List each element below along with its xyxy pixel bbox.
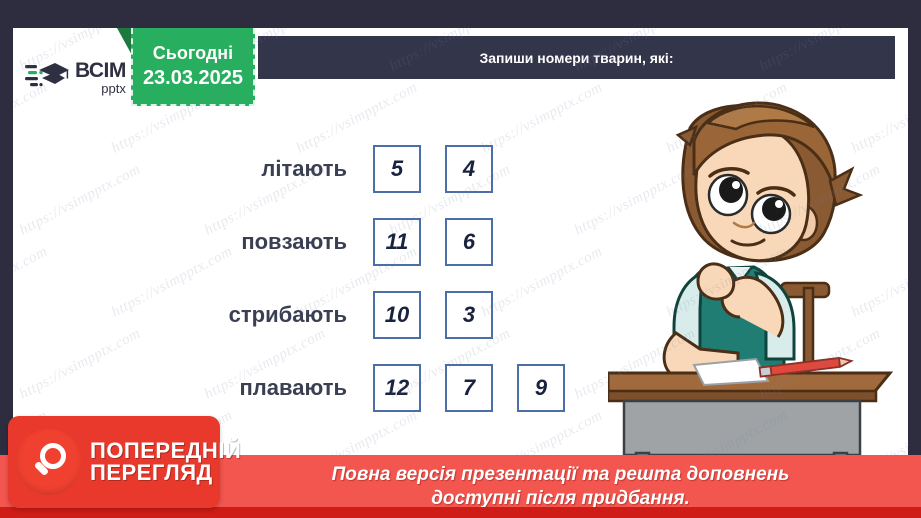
thinking-boy-illustration: [608, 83, 908, 478]
date-today-label: Сьогодні: [153, 43, 233, 64]
banner-line-2: доступні після придбання.: [431, 487, 690, 511]
task-row-label: стрибають: [43, 302, 373, 328]
answer-box[interactable]: 11: [373, 218, 421, 266]
preview-badge-line1: ПОПЕРЕДНІЙ: [90, 440, 241, 462]
slide-root: ВСІМ pptx Сьогодні 23.03.2025 Запиши ном…: [0, 0, 921, 518]
answer-boxes: 1279: [373, 364, 565, 412]
preview-badge-line2: ПЕРЕГЛЯД: [90, 462, 241, 484]
answer-boxes: 103: [373, 291, 493, 339]
task-row: літають54: [43, 132, 613, 205]
page-title: Запиши номери тварин, які:: [480, 50, 674, 66]
brand-logo[interactable]: ВСІМ pptx: [25, 59, 126, 95]
answer-boxes: 116: [373, 218, 493, 266]
answer-boxes: 54: [373, 145, 493, 193]
task-row-label: літають: [43, 156, 373, 182]
magnifier-icon: [16, 429, 82, 495]
task-row-label: плавають: [43, 375, 373, 401]
answer-box[interactable]: 6: [445, 218, 493, 266]
task-row-label: повзають: [43, 229, 373, 255]
task-header-bar: Запиши номери тварин, які:: [258, 36, 895, 79]
task-row: стрибають103: [43, 278, 613, 351]
graduation-cap-icon: [25, 59, 71, 95]
answer-box[interactable]: 9: [517, 364, 565, 412]
task-row: повзають116: [43, 205, 613, 278]
answer-box[interactable]: 3: [445, 291, 493, 339]
answer-box[interactable]: 5: [373, 145, 421, 193]
task-row: плавають1279: [43, 351, 613, 424]
preview-badge[interactable]: ПОПЕРЕДНІЙ ПЕРЕГЛЯД: [8, 416, 220, 508]
answer-box[interactable]: 7: [445, 364, 493, 412]
date-badge: Сьогодні 23.03.2025: [117, 28, 255, 106]
banner-line-1: Повна версія презентації та решта доповн…: [332, 463, 790, 487]
date-value: 23.03.2025: [143, 67, 243, 90]
answer-box[interactable]: 12: [373, 364, 421, 412]
answer-box[interactable]: 4: [445, 145, 493, 193]
task-rows-container: літають54повзають116стрибають103плавають…: [43, 132, 613, 424]
answer-box[interactable]: 10: [373, 291, 421, 339]
